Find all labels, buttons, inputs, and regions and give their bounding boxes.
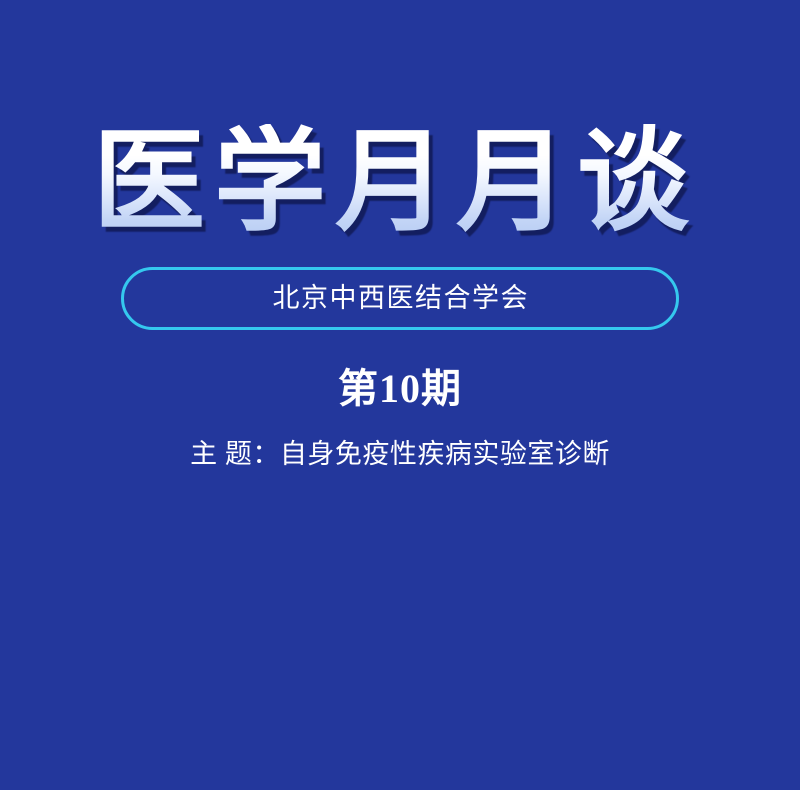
page-title: 医学月月谈: [93, 124, 707, 244]
episode-number: 第10期: [0, 369, 800, 409]
organization-name: 北京中西医结合学会: [271, 285, 529, 312]
poster-title-wrap: 医学月月谈: [0, 124, 800, 244]
topic-line: 主 题：自身免疫性疾病实验室诊断: [0, 441, 800, 468]
poster-canvas: 医学月月谈 北京中西医结合学会 第10期 主 题：自身免疫性疾病实验室诊断: [0, 0, 800, 790]
blank-lower-area: [0, 490, 800, 790]
organization-badge: 北京中西医结合学会: [121, 267, 679, 330]
